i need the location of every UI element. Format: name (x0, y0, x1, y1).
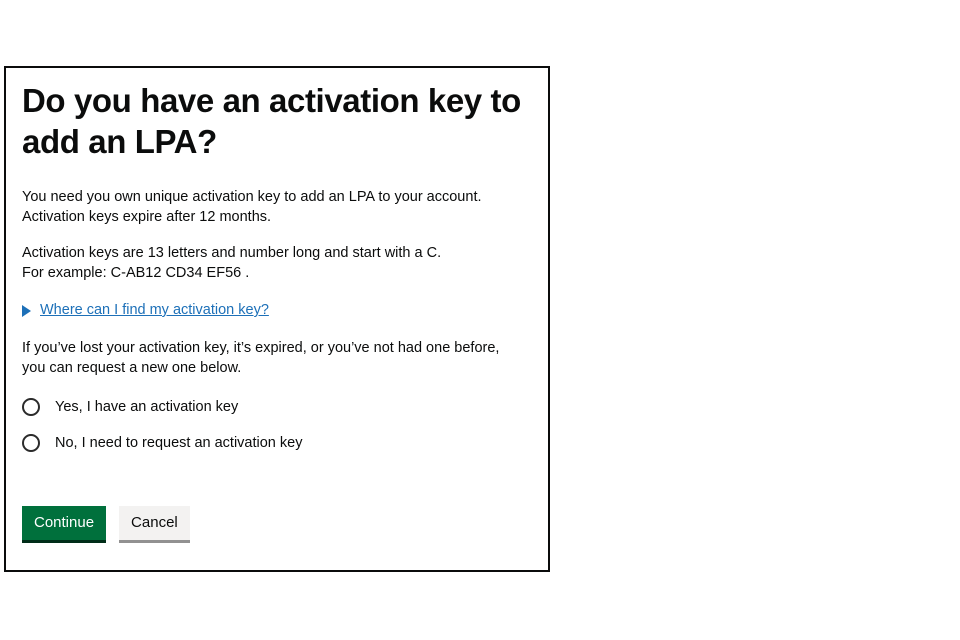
radio-circle-icon[interactable] (22, 398, 40, 416)
lost-key-line-2: you can request a new one below. (22, 358, 522, 378)
intro-paragraph: You need you own unique activation key t… (20, 187, 522, 227)
spacer (20, 378, 534, 392)
radio-option-yes[interactable]: Yes, I have an activation key (22, 392, 534, 422)
spacer (20, 283, 534, 300)
radio-option-yes-label: Yes, I have an activation key (55, 397, 238, 417)
form-actions: Continue Cancel (22, 506, 190, 540)
continue-button[interactable]: Continue (22, 506, 106, 540)
page-root: Do you have an activation key to add an … (0, 0, 960, 640)
spacer (20, 320, 534, 338)
spacer (20, 162, 534, 187)
lost-key-paragraph: If you’ve lost your activation key, it’s… (20, 338, 522, 378)
key-format-paragraph: Activation keys are 13 letters and numbe… (20, 243, 522, 283)
intro-paragraph-line-2: Activation keys expire after 12 months. (22, 207, 522, 227)
radio-circle-icon[interactable] (22, 434, 40, 452)
activation-key-card: Do you have an activation key to add an … (4, 66, 550, 572)
radio-option-no-label: No, I need to request an activation key (55, 433, 302, 453)
lost-key-line-1: If you’ve lost your activation key, it’s… (22, 338, 522, 358)
activation-key-radio-group: Yes, I have an activation key No, I need… (20, 392, 534, 458)
spacer (20, 227, 534, 243)
details-disclosure[interactable]: Where can I find my activation key? (20, 300, 534, 320)
intro-paragraph-line-1: You need you own unique activation key t… (22, 187, 522, 207)
key-format-line-1: Activation keys are 13 letters and numbe… (22, 243, 522, 263)
chevron-right-icon[interactable] (22, 305, 31, 317)
cancel-button[interactable]: Cancel (119, 506, 190, 540)
radio-option-no[interactable]: No, I need to request an activation key (22, 428, 534, 458)
card-content: Do you have an activation key to add an … (20, 80, 534, 570)
page-title: Do you have an activation key to add an … (20, 80, 534, 162)
details-summary-link[interactable]: Where can I find my activation key? (40, 300, 269, 320)
key-format-line-2: For example: C-AB12 CD34 EF56 . (22, 263, 522, 283)
